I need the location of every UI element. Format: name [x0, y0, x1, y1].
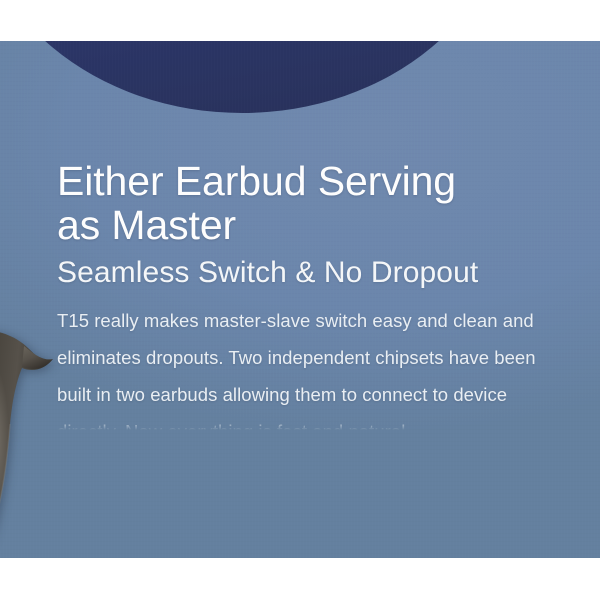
promo-stage: Either Earbud Serving as Master Seamless…	[0, 0, 600, 600]
letterbox-band-top	[0, 0, 600, 41]
marketing-copy-block: Either Earbud Serving as Master Seamless…	[57, 159, 557, 430]
navy-arc-shape	[0, 41, 510, 113]
page-subtitle: Seamless Switch & No Dropout	[57, 255, 557, 291]
page-title: Either Earbud Serving as Master	[57, 159, 557, 247]
wireless-earbud-photo	[0, 328, 74, 560]
letterbox-band-bottom	[0, 558, 600, 600]
body-paragraph: T15 really makes master-slave switch eas…	[57, 302, 549, 430]
body-text-clip: T15 really makes master-slave switch eas…	[57, 302, 549, 430]
earbud-nozzle	[22, 346, 53, 369]
